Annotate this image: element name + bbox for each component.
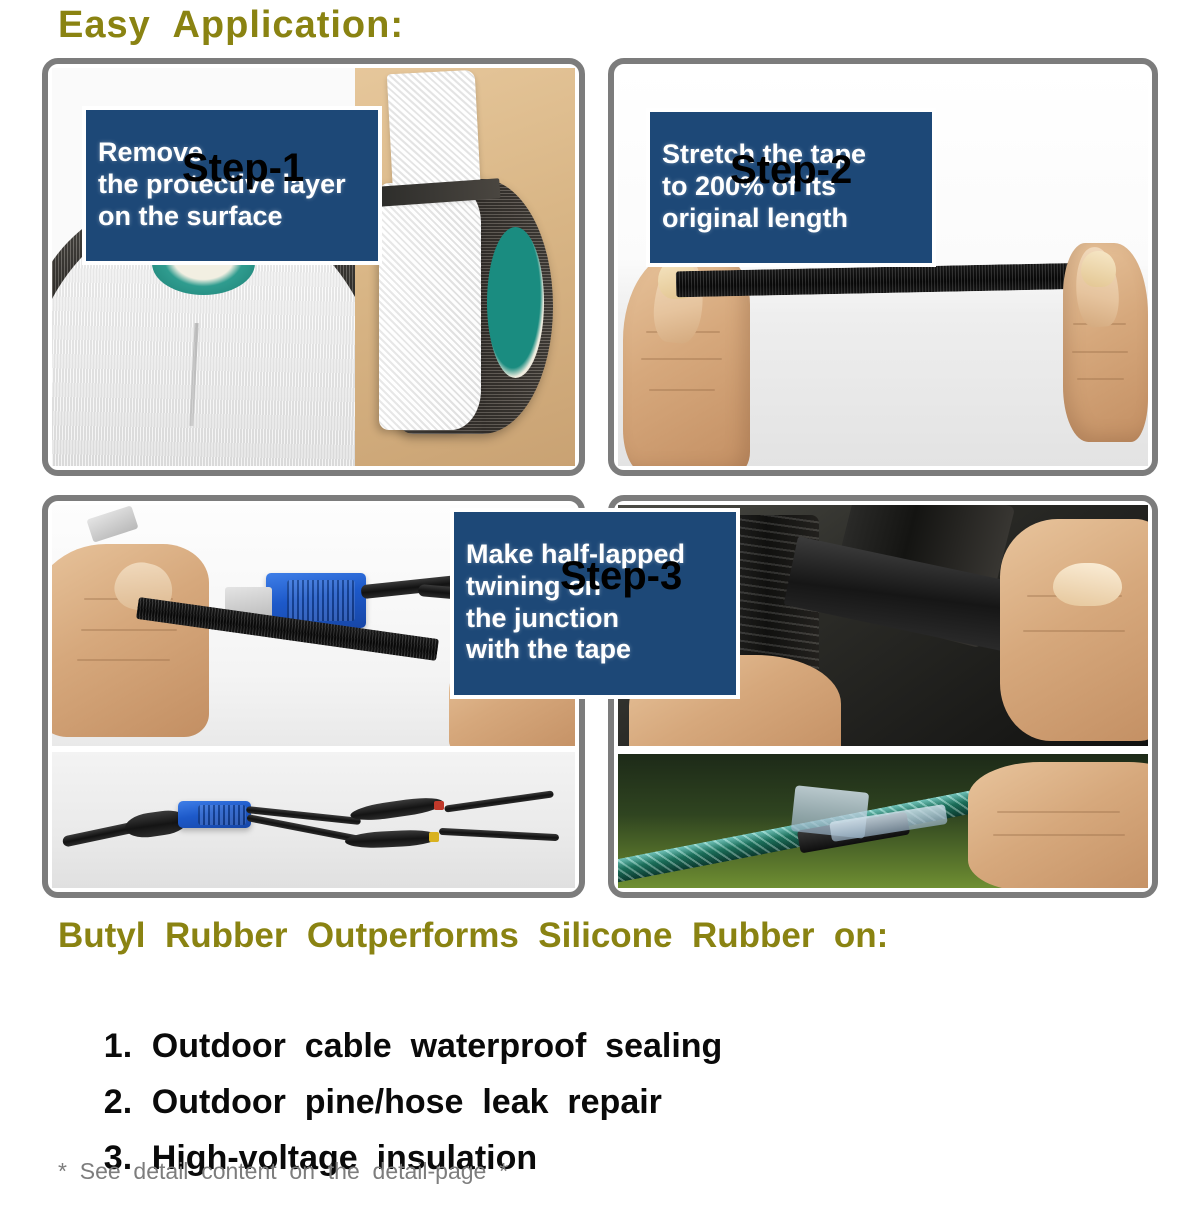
step-2-label: Step-2 — [730, 148, 852, 193]
finger-crease — [1077, 378, 1124, 380]
right-thumbnail — [1081, 251, 1116, 287]
steps-panel-grid: Step-1 Remove the protective layer on th… — [42, 58, 1158, 898]
finger-crease — [993, 834, 1124, 836]
finger-crease — [997, 811, 1120, 813]
finger-crease — [81, 629, 177, 631]
cable-right-upper — [444, 791, 554, 813]
blue-connector-ribs — [287, 580, 355, 621]
finger-crease — [649, 389, 715, 391]
red-marker-ring — [434, 801, 444, 811]
hand-applying-tape — [1000, 519, 1148, 741]
taped-joint-upper — [349, 794, 444, 823]
step-1-panel: Step-1 Remove the protective layer on th… — [42, 58, 585, 476]
finger-crease — [1023, 630, 1125, 632]
finger-crease — [641, 358, 722, 360]
thumbnail-applying — [1053, 563, 1122, 606]
step-1-label: Step-1 — [182, 146, 304, 191]
step-2-panel: Step-2 Stretch the tape to 200% of its o… — [608, 58, 1158, 476]
detail-page-footnote: * See detail content on the detail-page … — [58, 1158, 508, 1185]
taped-joint-lower — [345, 828, 440, 849]
step-3-label: Step-3 — [560, 554, 682, 599]
finger-crease — [77, 659, 169, 661]
hand-wrapping-hose — [968, 762, 1148, 888]
finger-crease — [1072, 351, 1128, 353]
cable-right-lower — [439, 828, 559, 841]
grey-clip — [86, 506, 138, 543]
photo-finished-cable-assembly — [52, 752, 575, 888]
benefits-heading: Butyl Rubber Outperforms Silicone Rubber… — [58, 916, 888, 956]
photo-tape-roll-upright — [355, 68, 575, 466]
yellow-marker-ring — [429, 832, 439, 842]
tape-roll-white-liner — [379, 183, 480, 430]
photo-garden-hose-repair — [618, 754, 1148, 888]
step-2-panel-inner: Step-2 Stretch the tape to 200% of its o… — [618, 68, 1148, 466]
blue-connector-lower-ribs — [198, 805, 245, 825]
step-1-panel-inner: Step-1 Remove the protective layer on th… — [52, 68, 575, 466]
tape-roll-core — [487, 227, 544, 378]
step-3-callout: Make half-lapped twining on the junction… — [450, 508, 740, 699]
page-title: Easy Application: — [58, 4, 404, 47]
